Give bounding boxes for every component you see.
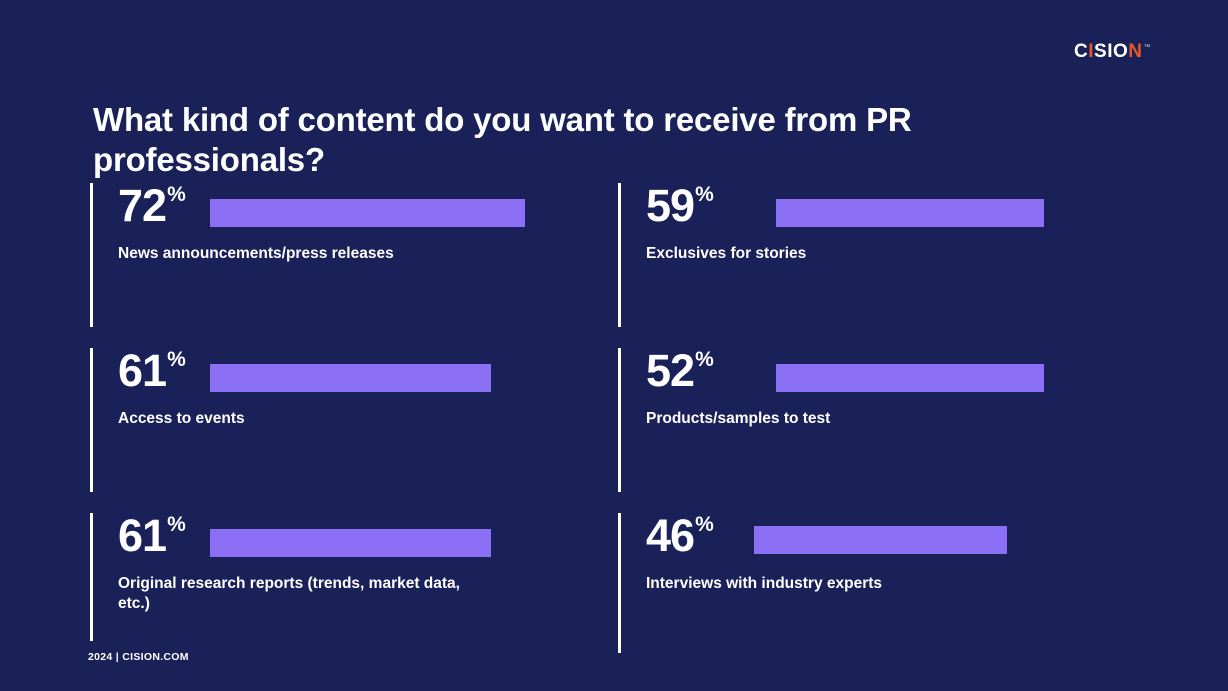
stat-divider — [90, 348, 93, 492]
stat-bar — [754, 526, 1007, 554]
stat-number: 72 % — [118, 183, 210, 229]
page-title: What kind of content do you want to rece… — [93, 100, 1053, 180]
logo-letter-c: C — [1074, 42, 1088, 61]
stat-number: 59 % — [646, 183, 740, 229]
stat-label: Original research reports (trends, marke… — [118, 574, 468, 614]
stat-row: 61 % — [118, 348, 618, 400]
stat-label: Interviews with industry experts — [646, 574, 1046, 594]
stat-label: Products/samples to test — [646, 409, 1046, 429]
stat-bar — [776, 199, 1044, 227]
stat-number: 52 % — [646, 348, 740, 394]
stat-value: 61 — [118, 348, 166, 394]
stat-bar — [210, 364, 491, 392]
stat-bar — [210, 199, 525, 227]
stat-item-news-announcements: 72 % News announcements/press releases — [90, 183, 618, 348]
infographic-slide: C I S I O N ™ What kind of content do yo… — [0, 0, 1228, 691]
stat-divider — [90, 513, 93, 641]
stat-item-original-research: 61 % Original research reports (trends, … — [90, 513, 618, 673]
stat-row: 59 % — [646, 183, 1150, 235]
stat-value: 52 — [646, 348, 694, 394]
stats-grid: 72 % News announcements/press releases 5… — [90, 183, 1150, 673]
stat-number: 61 % — [118, 513, 210, 559]
stat-divider — [618, 348, 621, 492]
logo-letter-i-1: I — [1088, 42, 1094, 61]
stat-divider — [618, 183, 621, 327]
percent-sign: % — [167, 349, 186, 370]
percent-sign: % — [167, 514, 186, 535]
stat-label: News announcements/press releases — [118, 244, 518, 264]
logo-letter-s: S — [1094, 42, 1107, 61]
stat-bar — [776, 364, 1044, 392]
stat-divider — [90, 183, 93, 327]
stat-bar — [210, 529, 491, 557]
footer-attribution: 2024 | CISION.COM — [88, 651, 189, 663]
percent-sign: % — [167, 184, 186, 205]
stat-value: 61 — [118, 513, 166, 559]
percent-sign: % — [695, 514, 714, 535]
cision-logo: C I S I O N ™ — [1074, 42, 1151, 61]
stat-label: Access to events — [118, 409, 518, 429]
logo-letter-o: O — [1113, 42, 1128, 61]
stat-item-exclusives: 59 % Exclusives for stories — [618, 183, 1150, 348]
stat-item-products-samples: 52 % Products/samples to test — [618, 348, 1150, 513]
stat-value: 59 — [646, 183, 694, 229]
logo-letter-n: N — [1128, 42, 1142, 61]
stat-item-access-to-events: 61 % Access to events — [90, 348, 618, 513]
stat-row: 61 % — [118, 513, 618, 565]
stat-value: 72 — [118, 183, 166, 229]
stat-value: 46 — [646, 513, 694, 559]
stat-number: 46 % — [646, 513, 740, 559]
stat-label: Exclusives for stories — [646, 244, 1046, 264]
stat-row: 52 % — [646, 348, 1150, 400]
trademark-icon: ™ — [1144, 44, 1152, 51]
stat-number: 61 % — [118, 348, 210, 394]
stat-item-interviews-experts: 46 % Interviews with industry experts — [618, 513, 1150, 673]
stat-row: 46 % — [646, 513, 1150, 565]
stat-divider — [618, 513, 621, 653]
stat-row: 72 % — [118, 183, 618, 235]
percent-sign: % — [695, 184, 714, 205]
percent-sign: % — [695, 349, 714, 370]
